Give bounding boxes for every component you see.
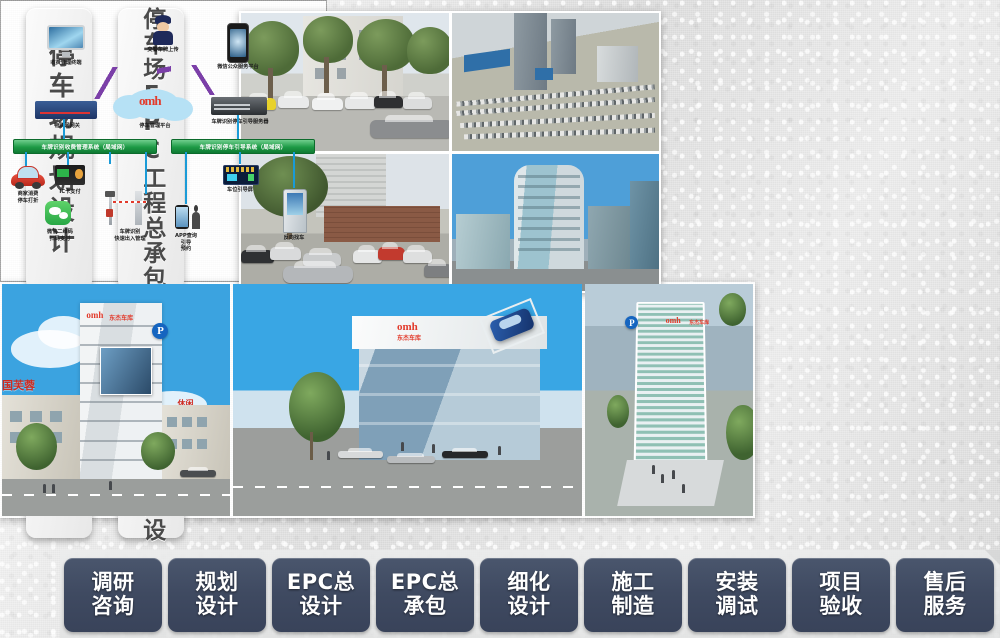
connector-line: [237, 115, 239, 139]
step-line2: 设计: [196, 595, 239, 619]
step-line2: 验收: [820, 595, 863, 619]
wechat-qr-payment-icon: [45, 201, 71, 225]
traffic-police-icon: [152, 15, 174, 45]
brand-logo-cn: 东杰车库: [109, 313, 133, 322]
charge-management-terminal-icon: [47, 25, 85, 57]
step-line2: 承包: [404, 595, 447, 619]
leaf-line1: APP查询: [175, 233, 197, 239]
step-line1: 细化: [508, 571, 551, 595]
diagram-leaf-label: 车位引导屏: [213, 187, 267, 194]
branch-line: [185, 152, 187, 204]
branch-line: [293, 152, 295, 188]
brand-logo-latin: omh: [86, 310, 103, 320]
diagram-leaf-label: APP查询 引导 预约: [163, 233, 209, 253]
branch-line: [109, 152, 111, 164]
app-query-phone-icon: [175, 205, 189, 229]
user-figure-icon: [191, 205, 201, 229]
cloud-shape: [157, 97, 193, 121]
process-step-planning-design[interactable]: 规划 设计: [168, 558, 266, 632]
ic-card-payment-icon: [55, 165, 85, 185]
merchant-discount-car-icon: [11, 165, 45, 189]
architectural-renderings-panel: omh 东杰车库 P 国芙蓉 休闲: [0, 282, 755, 518]
step-line1: 规划: [196, 571, 239, 595]
step-line2: 服务: [924, 595, 967, 619]
system-bar-charge-management: 车牌识别收费管理系统（局域网）: [13, 139, 157, 154]
diagram-node-label: 收费管理终端: [39, 60, 93, 67]
diagram-cloud-label: 停车管理平台: [123, 123, 187, 130]
shop-sign: 国芙蓉: [2, 377, 35, 393]
parking-badge: P: [152, 323, 168, 339]
lpr-guidance-server-icon: [211, 97, 267, 115]
process-steps-bar: 调研 咨询 规划 设计 EPC总 设计 EPC总 承包 细化 设计 施工 制造 …: [64, 558, 994, 632]
iot-gateway-icon: [35, 101, 97, 119]
process-step-installation-commissioning[interactable]: 安装 调试: [688, 558, 786, 632]
step-line2: 设计: [508, 595, 551, 619]
diagram-leaf-label: 车牌识别 快速出入管理: [99, 229, 161, 242]
diagram-leaf-label: IC卡支付: [51, 189, 89, 196]
process-step-epc-design[interactable]: EPC总 设计: [272, 558, 370, 632]
connector-line: [63, 119, 65, 139]
leaf-line1: 微信二维码: [47, 229, 73, 235]
parking-guidance-led-screen-icon: [223, 165, 259, 185]
brand-logo-cn: 东杰车库: [689, 319, 709, 326]
brand-logo-cn: 东杰车库: [397, 333, 421, 342]
system-architecture-diagram-panel: omh 停车管理平台 收费管理终端 交警车牌上传 微信公众服务平台 物联网网关 …: [0, 0, 327, 282]
step-line2: 设计: [300, 595, 343, 619]
leaf-line2: 扫码支付: [50, 236, 71, 242]
brand-logo-latin: omh: [397, 321, 418, 333]
leaf-line3: 预约: [181, 246, 191, 252]
diagram-node-label: 车牌识别停车引导服务器: [201, 119, 279, 126]
diagram-leaf-label: 微信二维码 扫码支付: [35, 229, 85, 242]
connector-line: [181, 65, 225, 95]
wechat-service-phone-icon: [227, 23, 249, 63]
process-step-epc-contracting[interactable]: EPC总 承包: [376, 558, 474, 632]
leaf-line1: 商家消费: [18, 191, 39, 197]
render-aerial-green-tower: P omh 东杰车库: [585, 284, 753, 516]
connector-line: [83, 67, 129, 99]
process-step-detailed-design[interactable]: 细化 设计: [480, 558, 578, 632]
billboard: [100, 347, 152, 395]
step-line1: 调研: [92, 571, 135, 595]
process-step-construction-manufacturing[interactable]: 施工 制造: [584, 558, 682, 632]
step-line2: 调试: [716, 595, 759, 619]
render-parking-garage: omh 东杰车库: [233, 284, 582, 516]
step-line1: EPC总: [287, 571, 355, 595]
step-line2: 制造: [612, 595, 655, 619]
step-line1: 售后: [924, 571, 967, 595]
leaf-line2: 停车打折: [18, 198, 39, 204]
brand-logo: omh: [139, 93, 161, 109]
step-line1: EPC总: [391, 571, 459, 595]
branch-line: [239, 152, 241, 164]
leaf-line1: 车牌识别: [120, 229, 141, 235]
lpr-barrier-gate-icon: [105, 191, 153, 225]
step-line2: 咨询: [92, 595, 135, 619]
diagram-node-label: 物联网网关: [41, 123, 93, 130]
diagram-leaf-label: 反向找车: [271, 235, 317, 242]
step-line1: 施工: [612, 571, 655, 595]
leaf-line2: 引导: [181, 240, 191, 246]
render-parking-tower: omh 东杰车库 P 国芙蓉 休闲: [2, 284, 230, 516]
connector-line: [157, 49, 171, 91]
brand-logo-latin: omh: [666, 316, 681, 325]
branch-line: [25, 152, 27, 166]
step-line1: 项目: [820, 571, 863, 595]
process-step-after-sales-service[interactable]: 售后 服务: [896, 558, 994, 632]
step-line1: 安装: [716, 571, 759, 595]
leaf-line2: 快速出入管理: [114, 236, 145, 242]
reverse-car-finding-kiosk-icon: [283, 189, 307, 233]
process-step-survey-consulting[interactable]: 调研 咨询: [64, 558, 162, 632]
process-step-project-acceptance[interactable]: 项目 验收: [792, 558, 890, 632]
branch-line: [145, 152, 147, 194]
diagram-leaf-label: 商家消费 停车打折: [5, 191, 51, 204]
